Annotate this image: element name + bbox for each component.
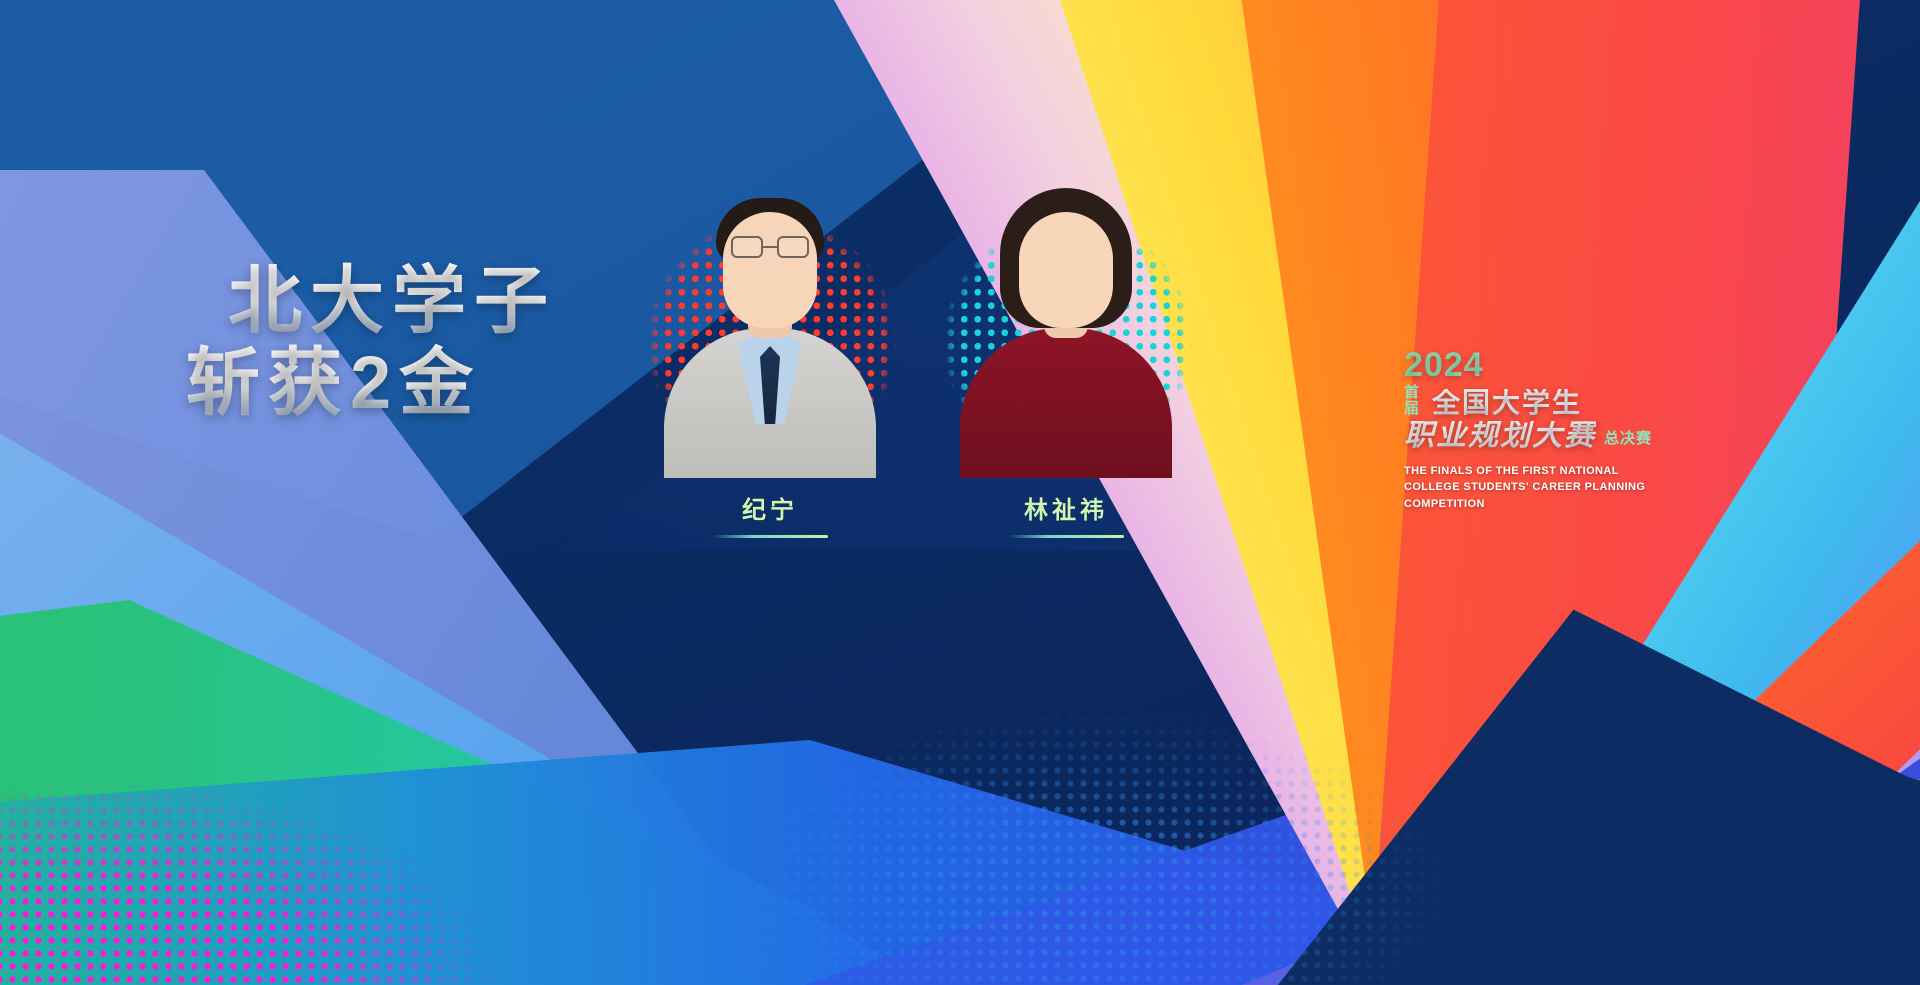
person-figure-2 — [936, 178, 1196, 478]
person-name-block-1: 纪宁 — [640, 490, 900, 538]
logo-english-block: THE FINALS OF THE FIRST NATIONAL COLLEGE… — [1404, 463, 1714, 513]
portrait-group: 纪宁 林祉祎 — [640, 178, 1200, 578]
logo-english-line-2: COLLEGE STUDENTS' CAREER PLANNING COMPET… — [1404, 479, 1714, 512]
portrait-photo-2 — [936, 178, 1196, 478]
name-underline-2 — [1008, 535, 1124, 538]
logo-title-line-2: 职业规划大赛 — [1404, 421, 1596, 451]
person-card-2: 林祉祎 — [936, 178, 1196, 478]
name-underline-1 — [712, 535, 828, 538]
portrait-photo-1 — [640, 178, 900, 478]
eyeglasses-icon — [731, 236, 809, 258]
logo-title-line-1: 全国大学生 — [1432, 389, 1582, 417]
person-name-block-2: 林祉祎 — [936, 490, 1196, 538]
headline-block: 北大学子 斩获2金 — [228, 262, 556, 423]
person-name-1: 纪宁 — [640, 490, 900, 525]
logo-first-edition-char-2: 届 — [1404, 401, 1424, 417]
jacket-shape — [960, 328, 1172, 478]
logo-year: 2024 — [1404, 348, 1714, 382]
logo-first-edition: 首 届 — [1404, 385, 1424, 417]
logo-final-badge: 总决赛 — [1604, 427, 1652, 451]
person-figure-1 — [640, 178, 900, 478]
logo-title-row-1: 首 届 全国大学生 — [1404, 385, 1714, 417]
person-name-2: 林祉祎 — [936, 490, 1196, 525]
logo-title-row-2: 职业规划大赛 总决赛 — [1404, 421, 1714, 451]
event-logo: 2024 首 届 全国大学生 职业规划大赛 总决赛 THE FINALS OF … — [1404, 348, 1714, 512]
head-shape — [1019, 212, 1113, 328]
headline-line-2: 斩获2金 — [186, 344, 556, 422]
logo-first-edition-char-1: 首 — [1404, 385, 1424, 401]
headline-line-1: 北大学子 — [228, 262, 556, 340]
person-card-1: 纪宁 — [640, 178, 900, 478]
logo-english-line-1: THE FINALS OF THE FIRST NATIONAL — [1404, 463, 1714, 480]
head-shape — [723, 212, 817, 328]
